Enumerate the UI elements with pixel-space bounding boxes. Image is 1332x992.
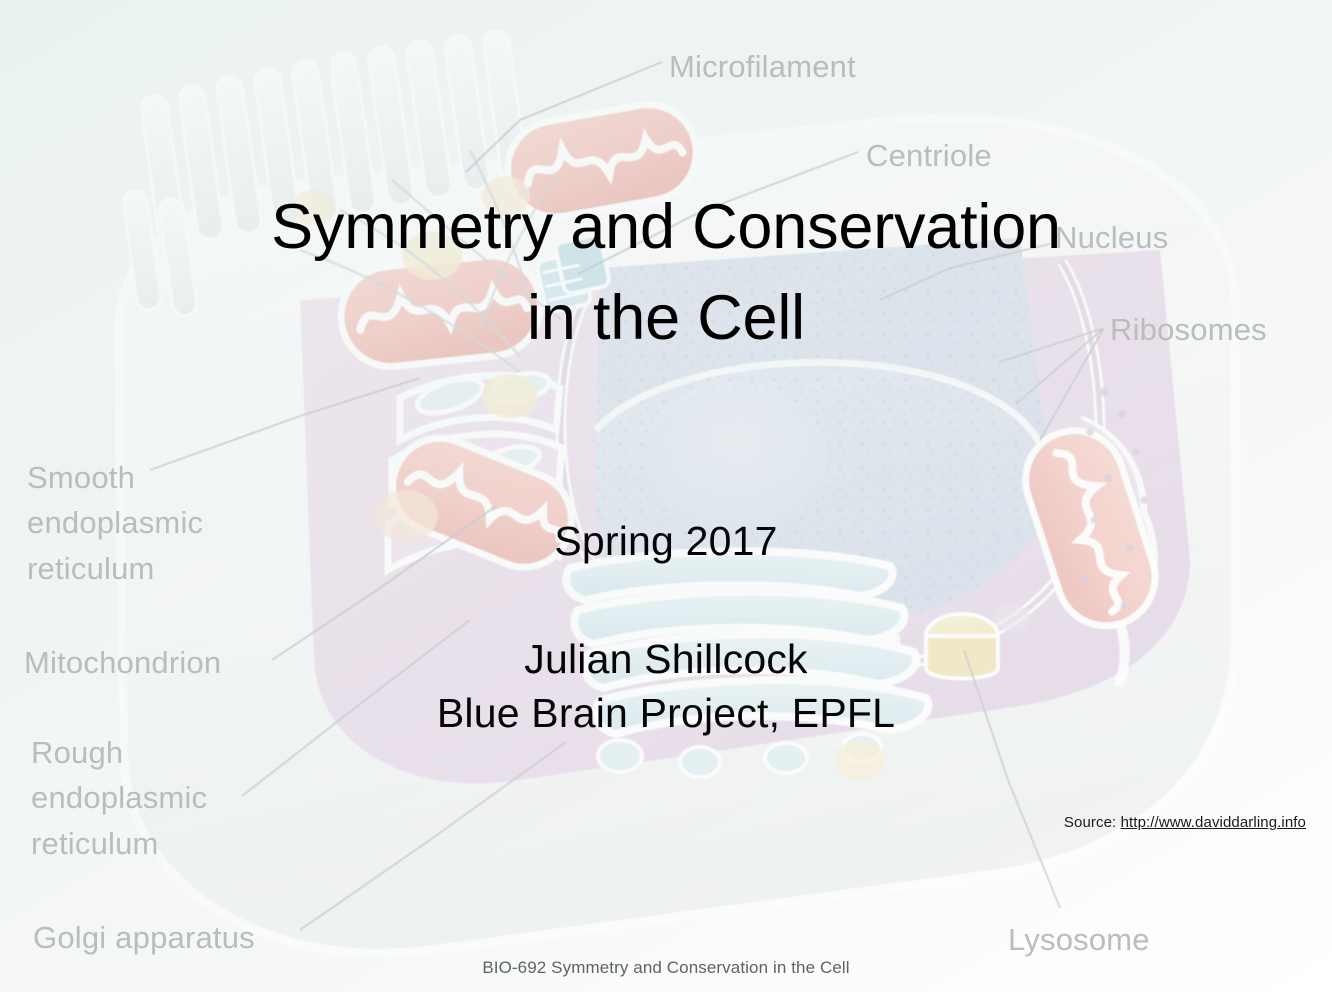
source-url-link[interactable]: http://www.daviddarling.info [1121, 814, 1306, 831]
slide-presenter: Julian Shillcock Blue Brain Project, EPF… [0, 632, 1332, 740]
source-prefix: Source: [1064, 814, 1121, 831]
source-credit: Source: http://www.daviddarling.info [1064, 814, 1306, 831]
slide-title: Symmetry and Conservation in the Cell [0, 182, 1332, 365]
diagram-label-rough-endoplasmic-reticulum: Rough endoplasmic reticulum [31, 730, 207, 866]
diagram-label-microfilament: Microfilament [669, 44, 856, 89]
slide: Microfilament Centriole Nucleus Ribosome… [0, 0, 1332, 992]
slide-subtitle: Spring 2017 [0, 518, 1332, 565]
diagram-label-lysosome: Lysosome [1008, 917, 1150, 962]
diagram-label-centriole: Centriole [866, 133, 992, 178]
diagram-label-golgi-apparatus: Golgi apparatus [33, 915, 255, 960]
slide-footer: BIO-692 Symmetry and Conservation in the… [0, 958, 1332, 978]
